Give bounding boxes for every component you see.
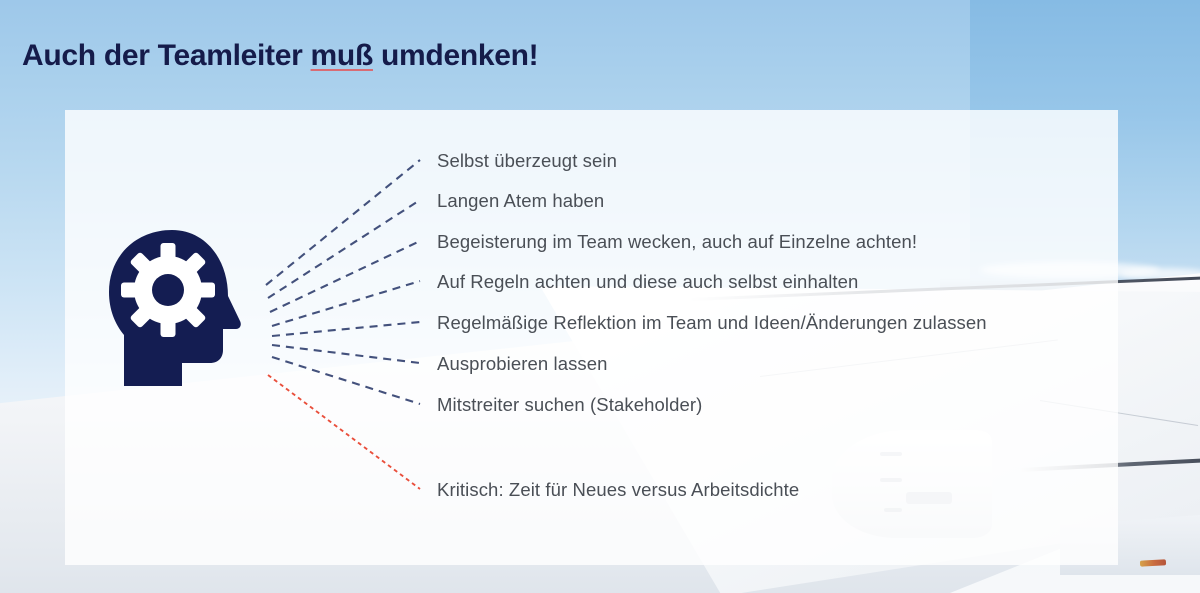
bullet-item: Auf Regeln achten und diese auch selbst … <box>437 271 858 293</box>
bullet-item: Selbst überzeugt sein <box>437 150 617 172</box>
title-suffix: umdenken! <box>373 39 538 72</box>
bullet-item: Begeisterung im Team wecken, auch auf Ei… <box>437 231 917 253</box>
title-misspelled-word: muß <box>311 39 373 72</box>
bullet-item: Regelmäßige Reflektion im Team und Ideen… <box>437 312 987 334</box>
bullet-item: Ausprobieren lassen <box>437 353 608 375</box>
page-title: Auch der Teamleiter muß umdenken! <box>22 39 538 73</box>
slide-canvas: Auch der Teamleiter muß umdenken! <box>0 0 1200 593</box>
bullet-item: Langen Atem haben <box>437 190 604 212</box>
head-with-gear-icon <box>106 228 246 388</box>
bullet-item: Mitstreiter suchen (Stakeholder) <box>437 394 702 416</box>
bullet-item: Kritisch: Zeit für Neues versus Arbeitsd… <box>437 479 799 501</box>
title-prefix: Auch der Teamleiter <box>22 39 311 72</box>
